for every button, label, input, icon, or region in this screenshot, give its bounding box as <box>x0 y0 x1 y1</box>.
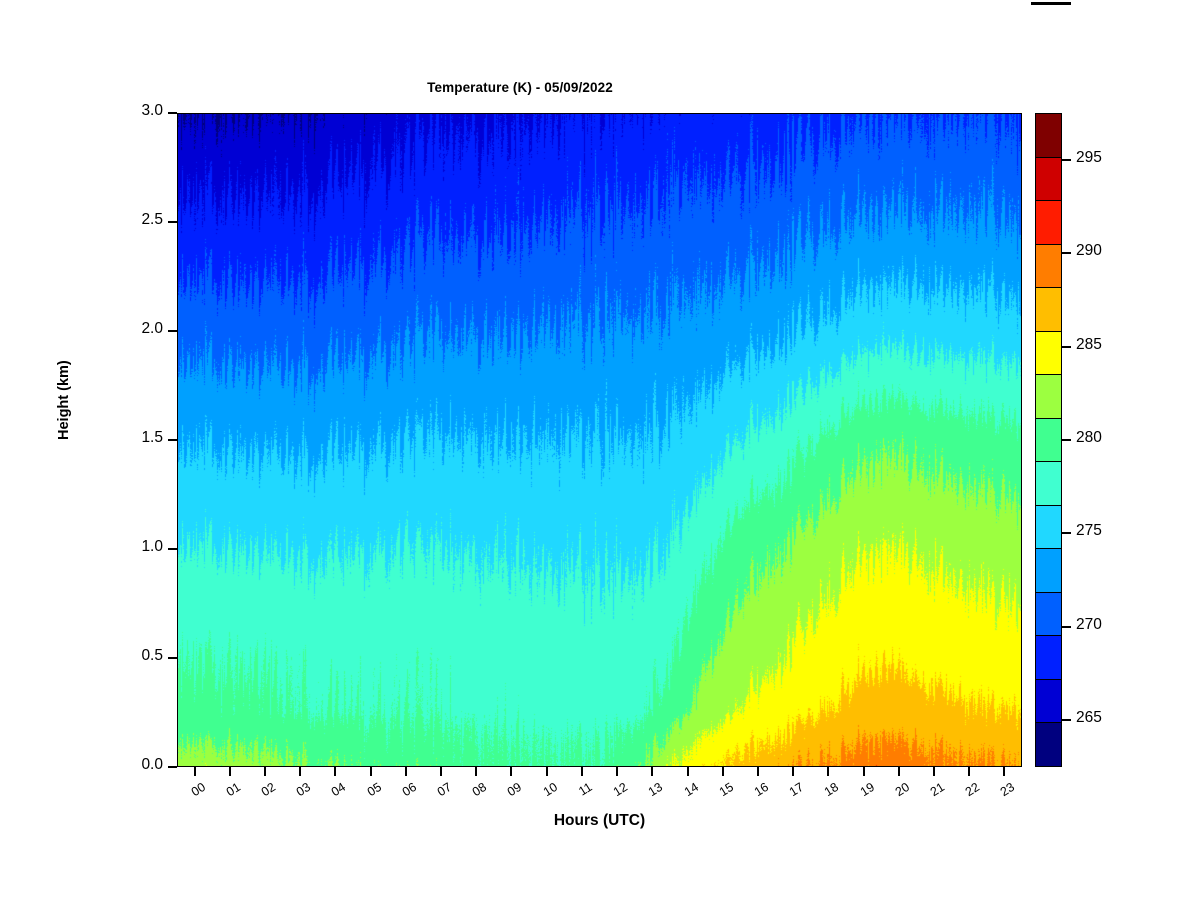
colorbar-band <box>1036 506 1061 550</box>
colorbar <box>1035 113 1062 767</box>
y-tick-label: 2.5 <box>141 211 163 229</box>
x-tick-mark <box>440 767 442 776</box>
x-tick-mark <box>616 767 618 776</box>
x-tick-label: 13 <box>646 780 665 799</box>
x-tick-label: 07 <box>435 780 454 799</box>
x-tick-mark <box>264 767 266 776</box>
y-tick-label: 3.0 <box>141 102 163 120</box>
x-tick-label: 20 <box>893 780 912 799</box>
colorbar-band <box>1036 462 1061 506</box>
colorbar-tick-label: 270 <box>1076 616 1102 634</box>
heatmap-plot-area <box>177 113 1022 767</box>
colorbar-tick-label: 265 <box>1076 709 1102 727</box>
x-tick-label: 12 <box>611 780 630 799</box>
x-tick-mark <box>229 767 231 776</box>
y-tick-label: 1.5 <box>141 429 163 447</box>
y-tick-label: 0.0 <box>141 756 163 774</box>
colorbar-band <box>1036 114 1061 158</box>
x-tick-label: 09 <box>505 780 524 799</box>
x-tick-label: 02 <box>259 780 278 799</box>
x-tick-mark <box>546 767 548 776</box>
x-tick-mark <box>968 767 970 776</box>
colorbar-band <box>1036 680 1061 724</box>
colorbar-band <box>1036 593 1061 637</box>
x-tick-mark <box>792 767 794 776</box>
colorbar-tick-mark <box>1062 159 1071 161</box>
x-tick-label: 18 <box>822 780 841 799</box>
temperature-time-height-figure: Temperature (K) - 05/09/2022 0.00.51.01.… <box>0 0 1200 900</box>
x-tick-label: 21 <box>928 780 947 799</box>
colorbar-tick-mark <box>1062 346 1071 348</box>
x-tick-mark <box>510 767 512 776</box>
x-tick-label: 05 <box>364 780 383 799</box>
x-tick-mark <box>933 767 935 776</box>
page-title: Temperature (K) - 05/09/2022 <box>0 80 1040 95</box>
x-tick-label: 17 <box>787 780 806 799</box>
x-tick-label: 08 <box>470 780 489 799</box>
x-tick-mark <box>299 767 301 776</box>
colorbar-tick-label: 295 <box>1076 149 1102 167</box>
colorbar-tick-mark <box>1062 532 1071 534</box>
y-tick-mark <box>168 439 177 441</box>
y-tick-label: 0.5 <box>141 647 163 665</box>
colorbar-axis: 265270275280285290295 <box>1062 113 1192 767</box>
y-tick-mark <box>168 112 177 114</box>
colorbar-tick-mark <box>1062 439 1071 441</box>
y-tick-mark <box>168 657 177 659</box>
colorbar-band <box>1036 375 1061 419</box>
x-tick-mark <box>1003 767 1005 776</box>
x-tick-mark <box>405 767 407 776</box>
x-tick-label: 22 <box>963 780 982 799</box>
colorbar-tick-label: 280 <box>1076 429 1102 447</box>
x-tick-label: 11 <box>576 780 594 799</box>
x-tick-label: 06 <box>400 780 419 799</box>
x-tick-mark <box>898 767 900 776</box>
x-tick-label: 19 <box>857 780 876 799</box>
x-tick-mark <box>722 767 724 776</box>
colorbar-band <box>1036 549 1061 593</box>
y-tick-label: 1.0 <box>141 538 163 556</box>
x-tick-mark <box>757 767 759 776</box>
x-tick-label: 04 <box>329 780 348 799</box>
colorbar-tick-label: 275 <box>1076 522 1102 540</box>
y-tick-label: 2.0 <box>141 320 163 338</box>
y-axis: 0.00.51.01.52.02.53.0 <box>0 0 177 900</box>
colorbar-band <box>1036 723 1061 766</box>
x-tick-label: 00 <box>188 780 207 799</box>
x-tick-label: 23 <box>998 780 1017 799</box>
colorbar-tick-label: 285 <box>1076 336 1102 354</box>
x-tick-mark <box>651 767 653 776</box>
colorbar-band <box>1036 245 1061 289</box>
colorbar-tick-mark <box>1062 626 1071 628</box>
x-tick-mark <box>475 767 477 776</box>
x-tick-mark <box>370 767 372 776</box>
colorbar-tick-mark <box>1062 252 1071 254</box>
x-tick-label: 14 <box>681 780 700 799</box>
colorbar-band <box>1036 636 1061 680</box>
colorbar-tick-mark <box>1062 719 1071 721</box>
top-edge-artifact <box>1031 2 1071 5</box>
y-tick-mark <box>168 330 177 332</box>
colorbar-tick-label: 290 <box>1076 242 1102 260</box>
x-tick-mark <box>863 767 865 776</box>
colorbar-band <box>1036 158 1061 202</box>
colorbar-band <box>1036 332 1061 376</box>
x-tick-mark <box>687 767 689 776</box>
y-axis-title: Height (km) <box>56 360 72 440</box>
colorbar-band <box>1036 288 1061 332</box>
heatmap-canvas <box>178 114 1021 766</box>
x-tick-label: 03 <box>294 780 313 799</box>
y-tick-mark <box>168 221 177 223</box>
x-tick-label: 16 <box>752 780 771 799</box>
x-tick-label: 10 <box>540 780 559 799</box>
x-tick-label: 01 <box>224 780 243 799</box>
colorbar-band <box>1036 201 1061 245</box>
colorbar-band <box>1036 419 1061 463</box>
x-tick-mark <box>827 767 829 776</box>
x-tick-mark <box>334 767 336 776</box>
y-tick-mark <box>168 548 177 550</box>
x-tick-mark <box>581 767 583 776</box>
x-tick-mark <box>194 767 196 776</box>
y-tick-mark <box>168 766 177 768</box>
x-axis-title: Hours (UTC) <box>177 812 1022 830</box>
x-tick-label: 15 <box>716 780 735 799</box>
